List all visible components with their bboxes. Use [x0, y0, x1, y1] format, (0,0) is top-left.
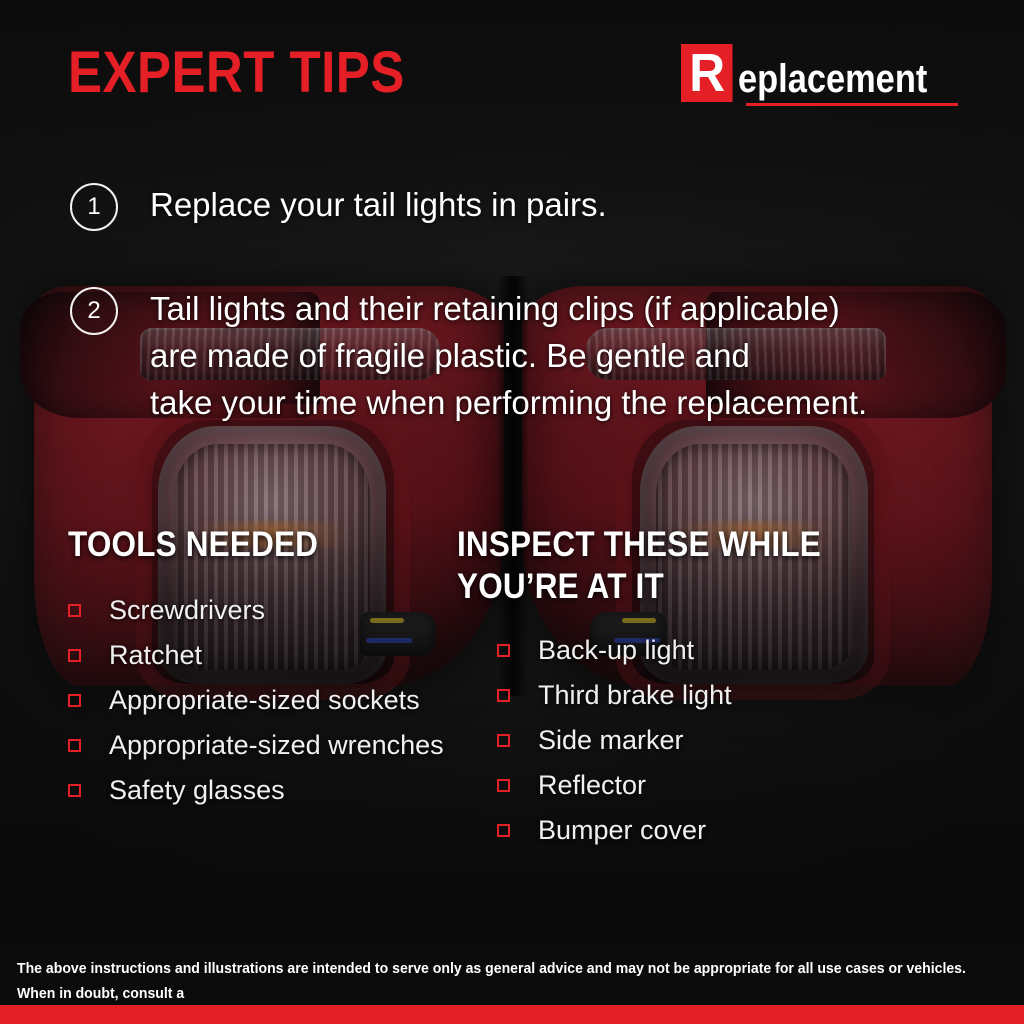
list-item: Ratchet [68, 633, 468, 678]
heading-line: YOU’RE AT IT [457, 566, 835, 608]
list-item-label: Safety glasses [109, 775, 285, 806]
tip-item-1: 1 Replace your tail lights in pairs. [70, 181, 607, 231]
list-item-label: Bumper cover [538, 815, 706, 846]
list-item-label: Side marker [538, 725, 684, 756]
brand-logo: R eplacement [681, 44, 958, 106]
tools-needed-list: Screwdrivers Ratchet Appropriate-sized s… [68, 588, 468, 813]
list-item-label: Back-up light [538, 635, 694, 666]
list-item-label: Screwdrivers [109, 595, 265, 626]
heading-line: INSPECT THESE WHILE [457, 524, 835, 566]
logo-badge-letter: R [681, 44, 733, 102]
infographic-canvas: EXPERT TIPS R eplacement 1 Replace your … [0, 0, 1024, 1024]
list-item: Appropriate-sized wrenches [68, 723, 468, 768]
tools-needed-heading: TOOLS NEEDED [68, 524, 428, 566]
list-item: Back-up light [497, 628, 877, 673]
list-item: Appropriate-sized sockets [68, 678, 468, 723]
tip-line: Replace your tail lights in pairs. [150, 181, 607, 228]
list-item-label: Ratchet [109, 640, 202, 671]
logo-wordmark-row: R eplacement [681, 44, 958, 102]
checkbox-square-icon [497, 689, 510, 702]
list-item: Reflector [497, 763, 877, 808]
checkbox-square-icon [68, 784, 81, 797]
heading-line: TOOLS NEEDED [68, 524, 428, 566]
checkbox-square-icon [497, 734, 510, 747]
list-item-label: Appropriate-sized sockets [109, 685, 420, 716]
logo-underline-rule [746, 103, 958, 106]
list-item-label: Reflector [538, 770, 646, 801]
bottom-accent-bar [0, 1005, 1024, 1024]
tip-text: Replace your tail lights in pairs. [150, 181, 607, 228]
list-item: Bumper cover [497, 808, 877, 853]
tip-line: are made of fragile plastic. Be gentle a… [150, 332, 867, 379]
content-layer: EXPERT TIPS R eplacement 1 Replace your … [0, 0, 1024, 1024]
checkbox-square-icon [497, 824, 510, 837]
tip-line: take your time when performing the repla… [150, 379, 867, 426]
checkbox-square-icon [68, 739, 81, 752]
inspect-heading: INSPECT THESE WHILE YOU’RE AT IT [457, 524, 835, 608]
list-item: Side marker [497, 718, 877, 763]
list-item-label: Third brake light [538, 680, 732, 711]
list-item: Safety glasses [68, 768, 468, 813]
tip-line: Tail lights and their retaining clips (i… [150, 285, 867, 332]
disclaimer-line: The above instructions and illustrations… [17, 957, 977, 1007]
logo-word: eplacement [738, 59, 927, 102]
tip-item-2: 2 Tail lights and their retaining clips … [70, 285, 867, 426]
inspect-list: Back-up light Third brake light Side mar… [497, 628, 877, 853]
checkbox-square-icon [68, 649, 81, 662]
list-item-label: Appropriate-sized wrenches [109, 730, 444, 761]
page-title: EXPERT TIPS [68, 44, 405, 102]
checkbox-square-icon [497, 644, 510, 657]
checkbox-square-icon [68, 604, 81, 617]
inspect-section: INSPECT THESE WHILE YOU’RE AT IT Back-up… [457, 524, 877, 853]
tools-needed-section: TOOLS NEEDED Screwdrivers Ratchet Approp… [68, 524, 468, 813]
checkbox-square-icon [68, 694, 81, 707]
list-item: Screwdrivers [68, 588, 468, 633]
tip-number-badge: 2 [70, 287, 118, 335]
tip-number-badge: 1 [70, 183, 118, 231]
tip-text: Tail lights and their retaining clips (i… [150, 285, 867, 426]
list-item: Third brake light [497, 673, 877, 718]
checkbox-square-icon [497, 779, 510, 792]
